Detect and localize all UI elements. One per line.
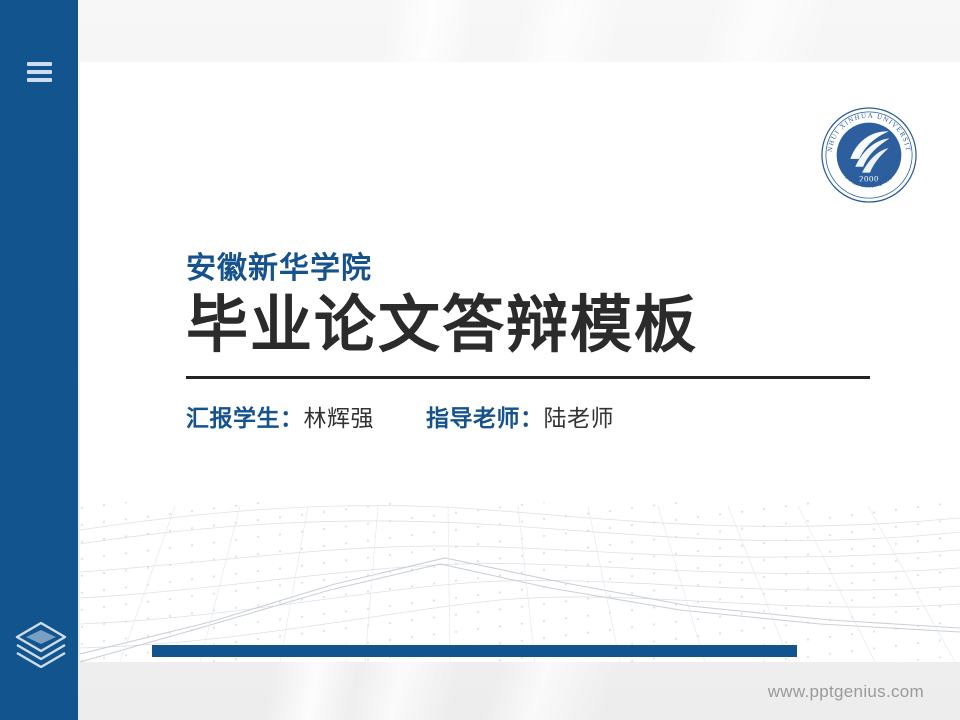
slide-canvas: 2000 ANHUI XINHUA UNIVERSITY 安徽新华学院 安徽新华…	[0, 0, 960, 720]
advisor-label: 指导老师：	[426, 405, 544, 433]
meta-item-student: 汇报学生： 林辉强	[186, 405, 374, 433]
stacked-layers-logo-icon[interactable]	[14, 620, 68, 668]
presenter-meta-row: 汇报学生： 林辉强 指导老师： 陆老师	[186, 405, 886, 433]
university-seal: 2000 ANHUI XINHUA UNIVERSITY 安徽新华学院	[820, 106, 918, 204]
title-divider-rule	[186, 376, 870, 379]
hamburger-bar-3	[27, 78, 52, 82]
hamburger-bar-1	[27, 62, 52, 66]
advisor-name: 陆老师	[544, 405, 615, 433]
student-label: 汇报学生：	[186, 405, 304, 433]
organization-name: 安徽新华学院	[186, 252, 886, 285]
hamburger-bar-2	[27, 70, 52, 74]
footer-website-url: www.pptgenius.com	[768, 682, 924, 702]
title-text-block: 安徽新华学院 毕业论文答辩模板 汇报学生： 林辉强 指导老师： 陆老师	[186, 252, 886, 433]
student-name: 林辉强	[304, 405, 375, 433]
card-bottom-accent-bar	[152, 645, 797, 657]
page-title: 毕业论文答辩模板	[186, 291, 886, 360]
wireframe-mesh-decoration	[80, 472, 960, 662]
left-sidebar	[0, 0, 78, 720]
meta-item-advisor: 指导老师： 陆老师	[426, 405, 614, 433]
content-card: 2000 ANHUI XINHUA UNIVERSITY 安徽新华学院 安徽新华…	[80, 62, 960, 662]
hamburger-menu-icon[interactable]	[27, 62, 52, 82]
